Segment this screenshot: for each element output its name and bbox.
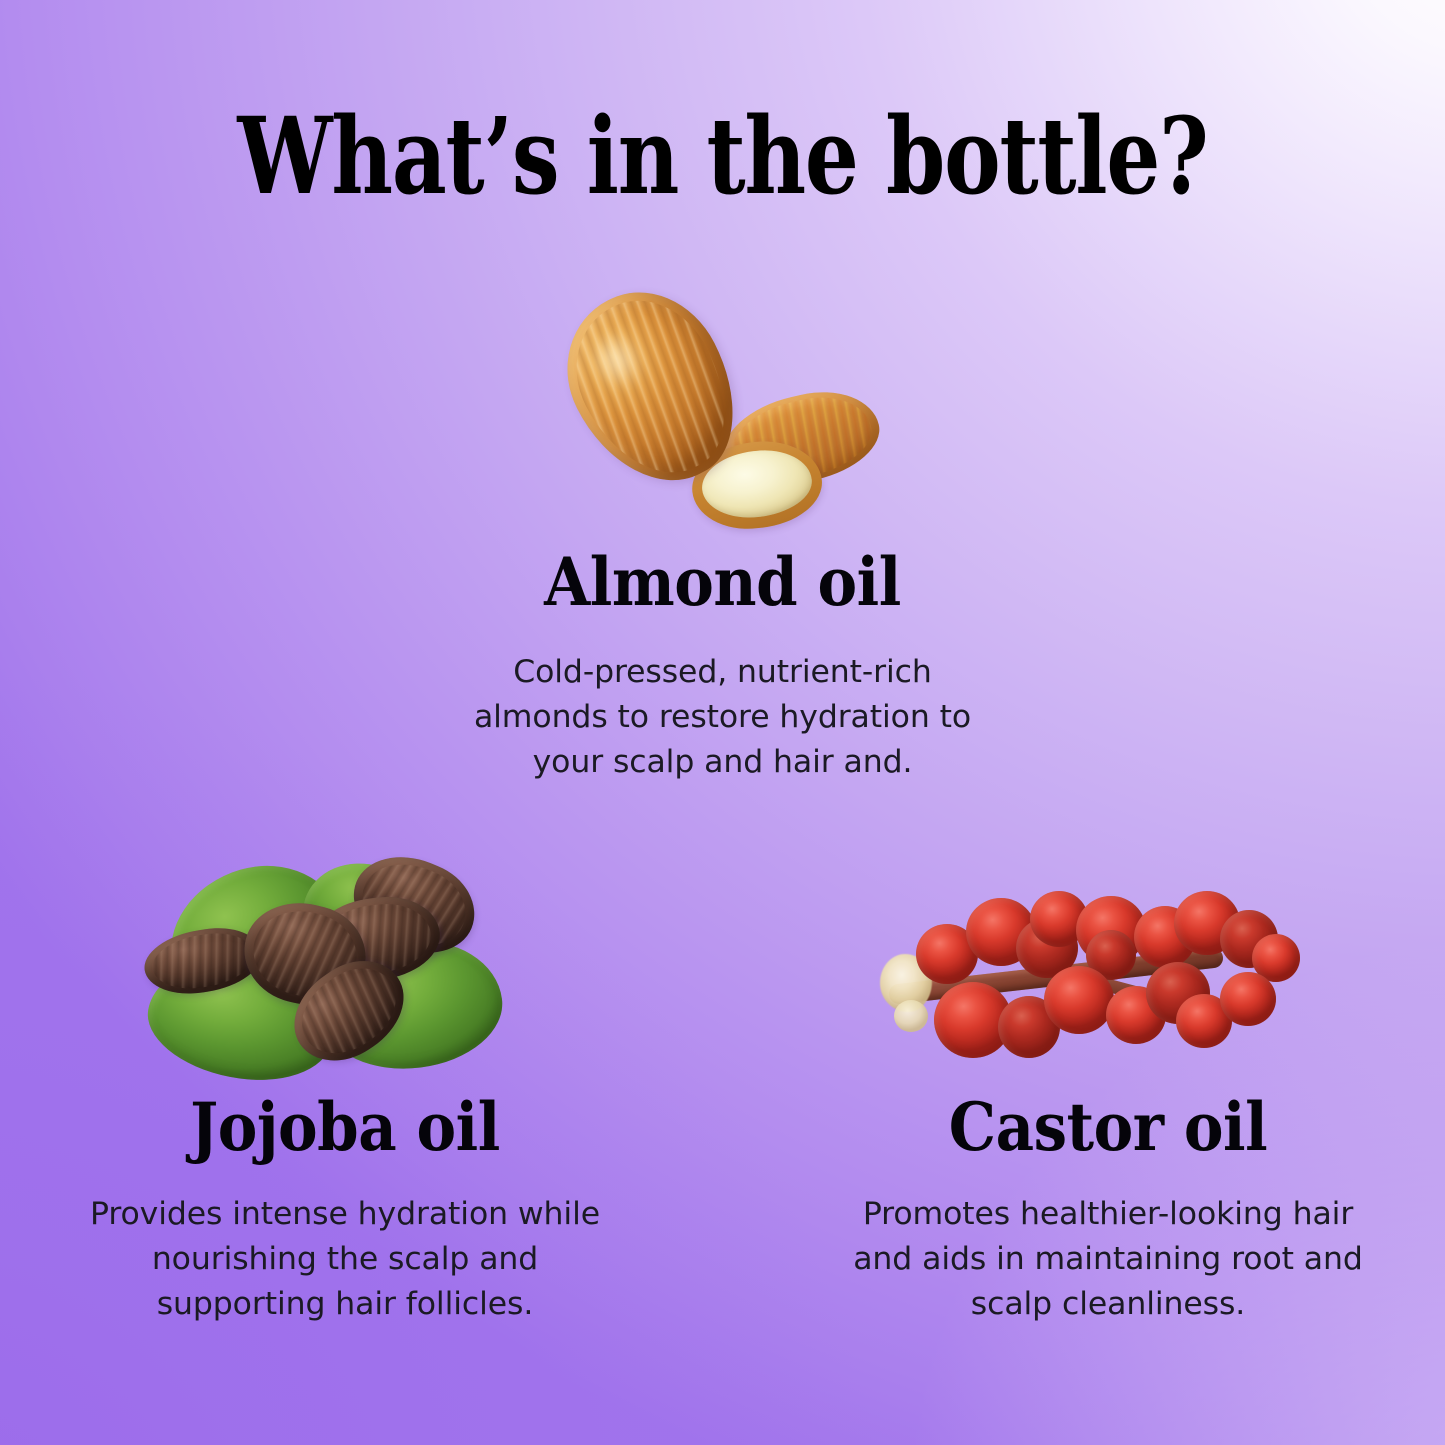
jojoba-oil-description: Provides intense hydration while nourish… bbox=[78, 1192, 612, 1327]
castor-pod bbox=[1044, 966, 1114, 1034]
ingredients-poster: What’s in the bottle? Almond oil Cold-pr… bbox=[0, 0, 1445, 1445]
castor-pod bbox=[1220, 972, 1276, 1026]
castor-flower-remnant bbox=[894, 1000, 928, 1032]
page-title: What’s in the bottle? bbox=[145, 103, 1301, 209]
castor-oil-heading: Castor oil bbox=[865, 1094, 1351, 1160]
castor-oil-description: Promotes healthier-looking hair and aids… bbox=[838, 1192, 1378, 1327]
jojoba-oil-heading: Jojoba oil bbox=[102, 1094, 588, 1160]
almond-nuts-illustration bbox=[572, 288, 882, 538]
castor-seed-pods-illustration bbox=[880, 890, 1300, 1080]
almond-oil-heading: Almond oil bbox=[72, 549, 1373, 615]
jojoba-seeds-illustration bbox=[136, 858, 512, 1074]
almond-oil-description: Cold-pressed, nutrient-rich almonds to r… bbox=[455, 650, 990, 785]
